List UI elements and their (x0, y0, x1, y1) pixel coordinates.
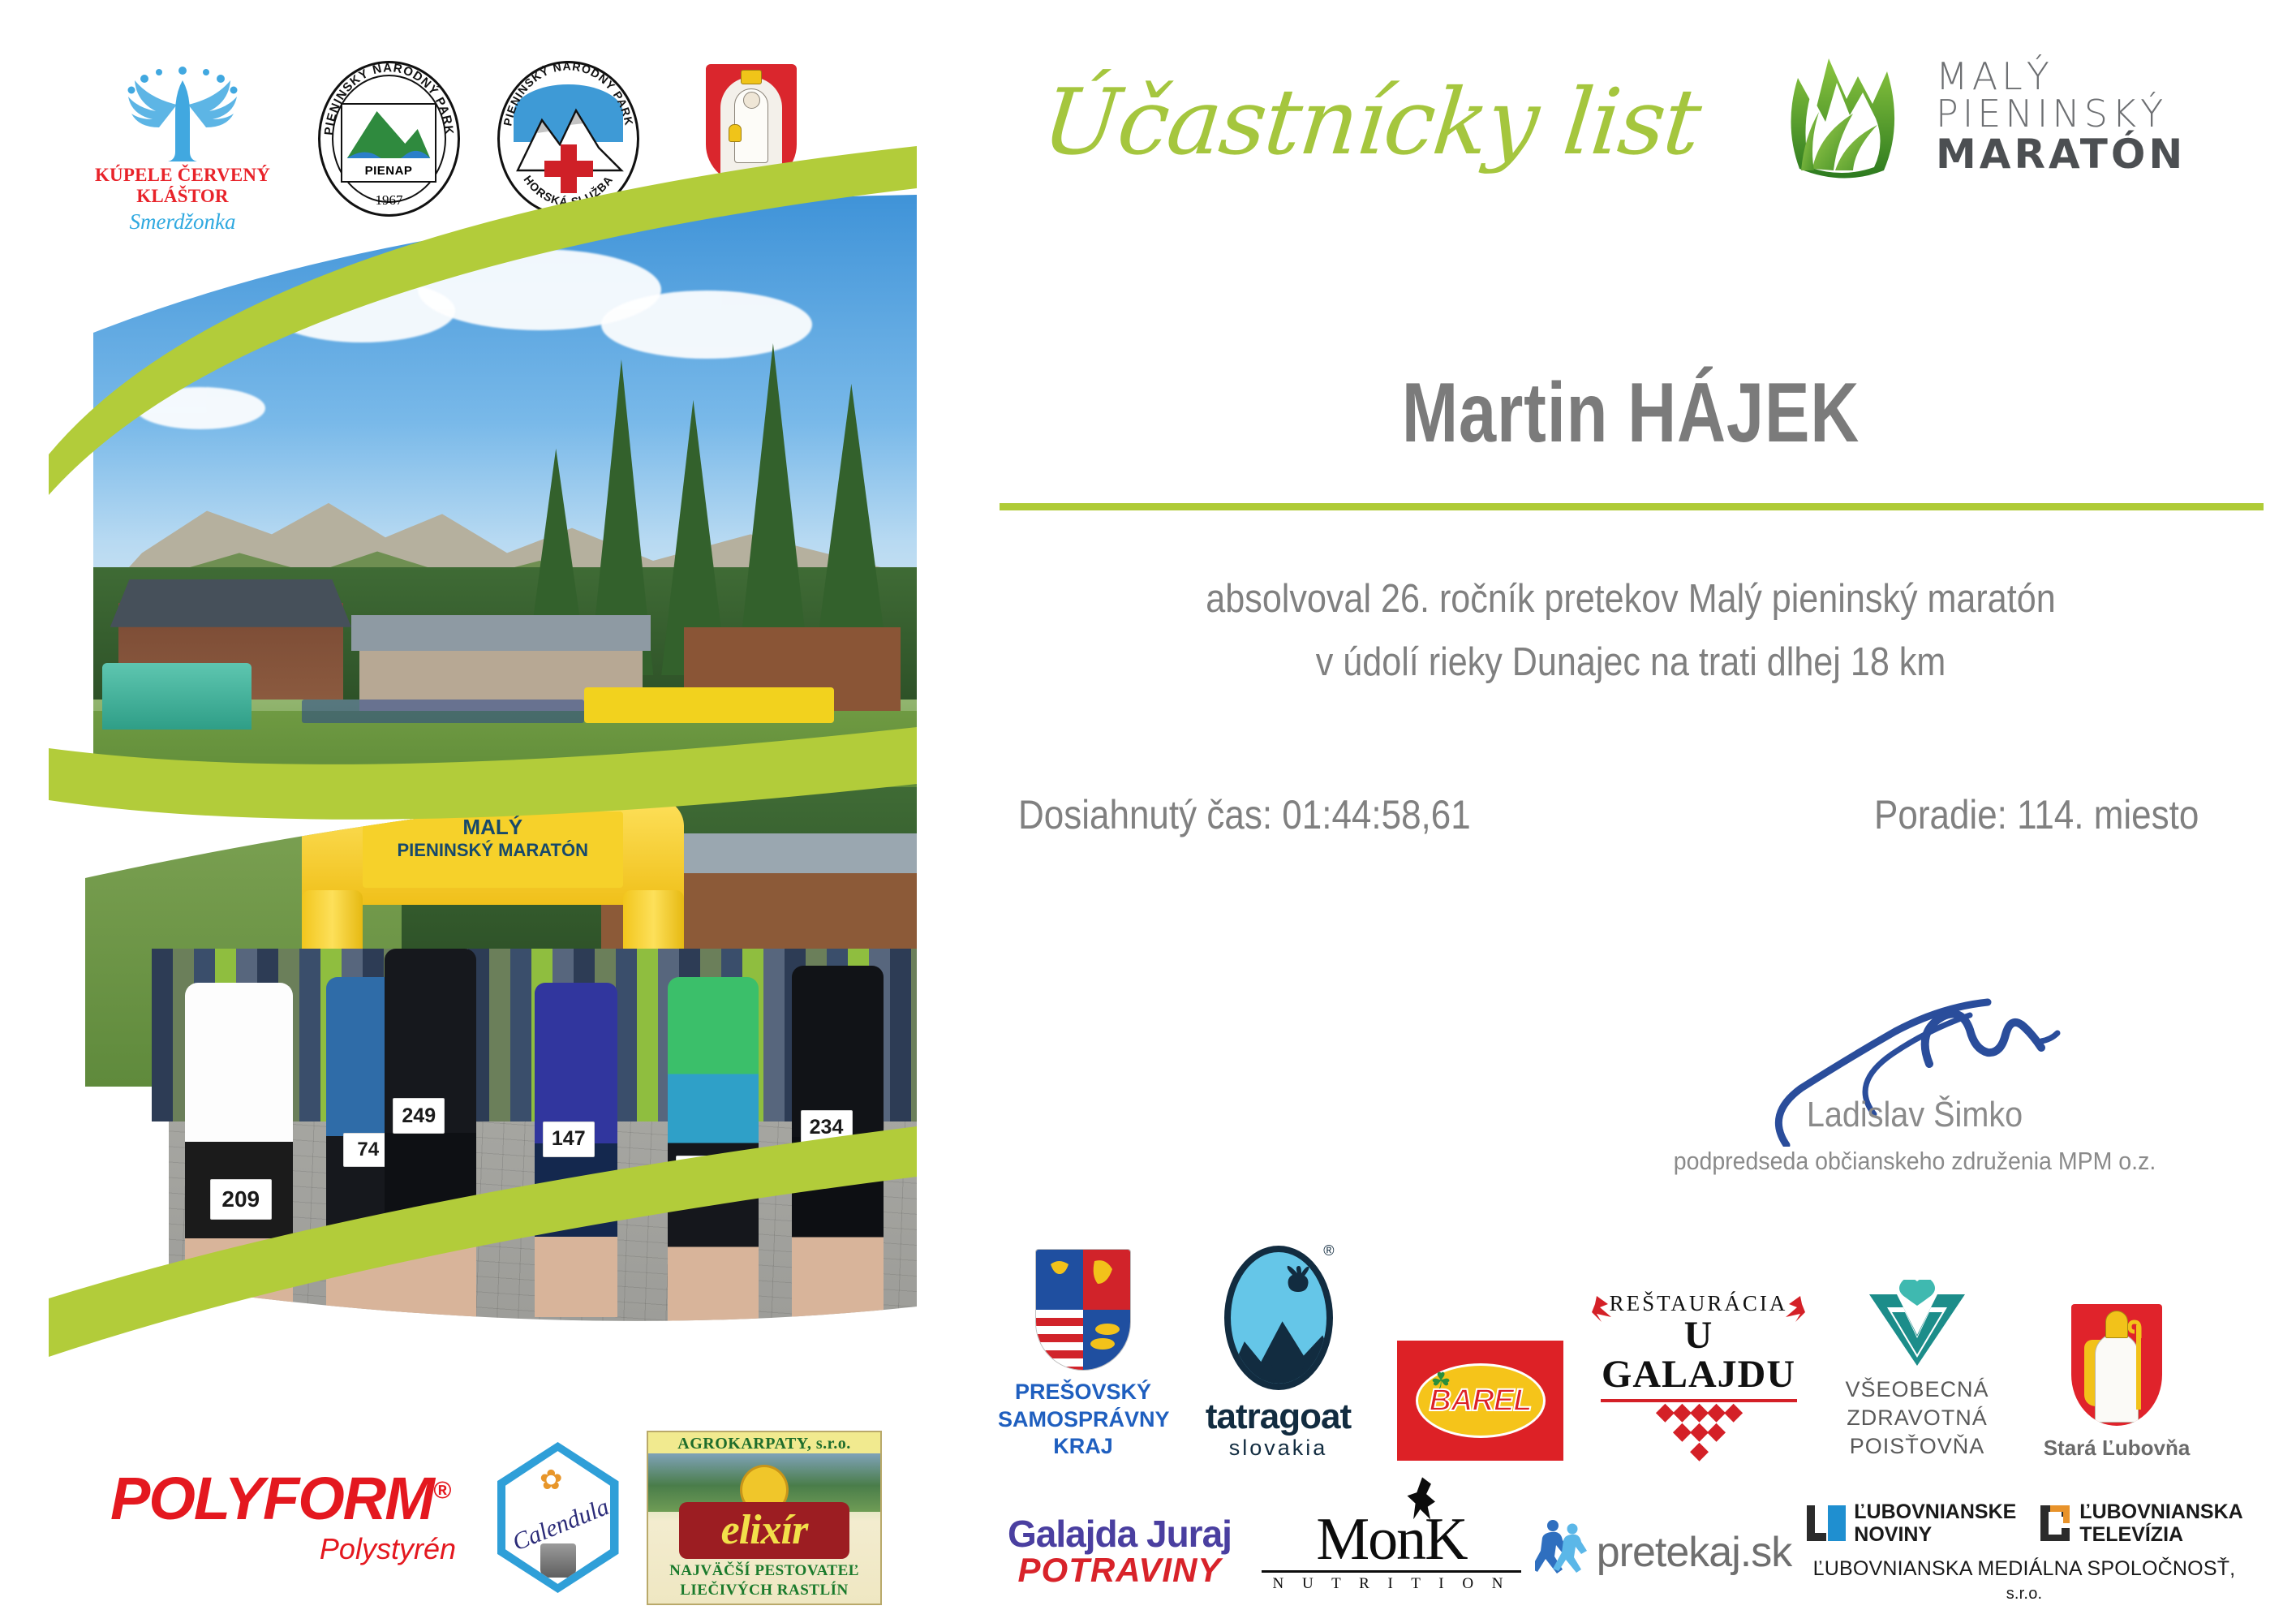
runner-bib: 209 (210, 1179, 272, 1220)
sponsor-presovsky-samospravny-kraj: PREŠOVSKÝ SAMOSPRÁVNY KRAJ (998, 1249, 1168, 1461)
venue-photo (85, 195, 917, 795)
runner-figure (668, 977, 759, 1323)
tatragoat-wordmark: tatragoat (1183, 1397, 1374, 1437)
sponsor-row-secondary: Galajda Juraj POTRAVINY MonK N U T R I T… (986, 1489, 2296, 1615)
tatragoat-emblem-icon (1224, 1246, 1333, 1390)
ln-monogram-icon (1805, 1504, 1847, 1543)
bishop-robe-shape (2095, 1333, 2139, 1423)
elixir-caption-2: LIEČIVÝCH RASTLÍN (648, 1581, 880, 1600)
tatragoat-subtitle: slovakia (1183, 1436, 1374, 1461)
yellow-bikes-row (584, 687, 834, 723)
psk-label-2: SAMOSPRÁVNY (998, 1406, 1168, 1434)
svg-text:PIENINSKÝ NÁRODNÝ PARK: PIENINSKÝ NÁRODNÝ PARK (501, 61, 635, 127)
signature-role: podpredseda občianskeho združenia MPM o.… (1631, 1147, 2198, 1176)
runner-bib: 249 (393, 1098, 445, 1134)
mpm-logo-line3: MARATÓN (1936, 134, 2186, 174)
elixir-ribbon: elixír (679, 1502, 849, 1559)
sponsor-vseobecna-zdravotna-poistovna: VŠEOBECNÁ ZDRAVOTNÁ POISŤOVŇA (1820, 1280, 2014, 1461)
ln-label-2: NOVINY (1854, 1523, 2016, 1546)
runners-icon (1535, 1518, 1592, 1587)
mortar-and-pestle-icon (540, 1543, 576, 1578)
vzp-chevron-icon (1866, 1280, 1968, 1367)
polyform-wordmark: POLYFORM (110, 1465, 433, 1532)
sponsor-polyform: POLYFORM® Polystyrén (97, 1469, 462, 1566)
event-tent (102, 663, 252, 729)
result-row: Dosiahnutý čas: 01:44:58,61 Poradie: 114… (998, 791, 2264, 838)
sponsor-stara-lubovna: Stará Ľubovňa (2019, 1304, 2214, 1461)
sponsor-barel: ☘ BAREL (1385, 1341, 1576, 1461)
mitre-icon (2105, 1311, 2128, 1338)
spruce-trees-icon (1249, 1348, 1323, 1380)
tv-label-2: TELEVÍZIA (2079, 1523, 2242, 1546)
sponsor-galajda-juraj: Galajda Juraj POTRAVINY (986, 1515, 1253, 1588)
lms-footer-main: ĽUBOVNIANSKA MEDIÁLNA SPOLOČNOSŤ, (1813, 1557, 2236, 1580)
psk-coat-of-arms-icon (1035, 1249, 1131, 1371)
folk-pattern-icon: ◆◆◆◆◆◆◆◆◆ (1587, 1402, 1810, 1461)
galajda-juraj-subtitle: POTRAVINY (986, 1552, 1253, 1588)
race-start-photo: MALÝ PIENINSKÝ MARATÓN 209 74 249 147 31… (85, 787, 917, 1363)
stara-lubovna-label: Stará Ľubovňa (2019, 1436, 2214, 1461)
lms-footer-sub: s.r.o. (2006, 1585, 2043, 1603)
tv-label-1: ĽUBOVNIANSKA (2079, 1500, 2242, 1523)
lodge-roof (110, 579, 351, 627)
result-place: Poradie: 114. miesto (1874, 791, 2199, 838)
sponsor-lubovnianska-medialna-spolocnost: ĽUBOVNIANSKE NOVINY ĽUBOVNIANSKA TELEVÍZ… (1797, 1500, 2251, 1604)
lubovnianske-noviny-brand: ĽUBOVNIANSKE NOVINY (1805, 1500, 2016, 1546)
elixir-wordmark: elixír (721, 1506, 808, 1554)
cloud-icon (135, 387, 265, 429)
galajda-juraj-name: Galajda Juraj (986, 1515, 1253, 1552)
mpm-logo-line2: PIENINSKÝ (1936, 95, 2186, 132)
runner-bib: 147 (543, 1121, 595, 1157)
bell-icon (729, 124, 742, 142)
runner-bib: 234 (801, 1110, 853, 1146)
sponsor-row-primary: PREŠOVSKÝ SAMOSPRÁVNY KRAJ ® tatragoat (998, 1242, 2296, 1461)
registered-trademark-icon: ® (1323, 1242, 1334, 1259)
ln-label-1: ĽUBOVNIANSKE (1854, 1500, 2016, 1523)
sponsor-pretekaj-sk: pretekaj.sk (1529, 1518, 1797, 1587)
sponsor-monk-nutrition: MonK N U T R I T I O N (1253, 1511, 1529, 1592)
polyform-subtitle: Polystyrén (97, 1532, 462, 1566)
chamois-icon (1276, 1265, 1314, 1314)
marigold-flower-icon: ✿ (540, 1464, 563, 1496)
tv-monogram-icon (2037, 1504, 2073, 1543)
crown-icon (741, 70, 762, 84)
monk-subtitle: N U T R I T I O N (1253, 1575, 1529, 1593)
stara-lubovna-coat-of-arms-icon (2071, 1304, 2162, 1426)
recipient-name: Martin HÁJEK (1124, 365, 2137, 462)
psk-label-1: PREŠOVSKÝ (998, 1379, 1168, 1406)
mpm-logo: MALÝ PIENINSKÝ MARATÓN (1769, 47, 2272, 185)
runner-bib: 31 (676, 1156, 723, 1190)
barel-oval-icon: ☘ BAREL (1416, 1363, 1546, 1438)
psk-label-3: KRAJ (998, 1433, 1168, 1461)
result-time: Dosiahnutý čas: 01:44:58,61 (1018, 791, 1471, 838)
pretekaj-wordmark: pretekaj.sk (1597, 1528, 1791, 1577)
sponsor-agrokarpaty-elixir: AGROKARPATY, s.r.o. PLAVNICA elixír NAJV… (647, 1431, 890, 1605)
vzp-label-3: POISŤOVŇA (1820, 1432, 2014, 1461)
page-title: Účastnícky list (1009, 77, 1733, 168)
elixir-label-card: AGROKARPATY, s.r.o. PLAVNICA elixír NAJV… (647, 1431, 882, 1605)
certificate-body-line-1: absolvoval 26. ročník pretekov Malý pien… (1074, 576, 2188, 622)
certificate-body-line-2: v údolí rieky Dunajec na trati dlhej 18 … (1074, 639, 2188, 685)
elixir-caption-1: NAJVÄČŠÍ PESTOVATEĽ (648, 1561, 880, 1581)
calendula-hex-icon: ✿ Calendula (497, 1442, 619, 1593)
folk-ornament-left-icon (1590, 1293, 1627, 1325)
arch-line1: MALÝ (363, 816, 623, 840)
lubovnianska-televizia-brand: ĽUBOVNIANSKA TELEVÍZIA (2037, 1500, 2242, 1546)
clover-icon: ☘ (1431, 1367, 1451, 1394)
sponsor-restauracia-u-galajdu: REŠTAURÁCIA U GALAJDU ◆◆◆◆◆◆◆◆◆ (1587, 1291, 1810, 1461)
crozier-curl-icon (2128, 1319, 2149, 1340)
hall-roof (351, 615, 651, 651)
green-divider (1000, 503, 2264, 510)
signature-block: Ladislav Šimko podpredseda občianskeho z… (1606, 1002, 2223, 1176)
signature-name: Ladislav Šimko (1637, 1095, 2192, 1135)
crowd-band (302, 700, 585, 724)
arch-line2: PIENINSKÝ MARATÓN (363, 840, 623, 860)
vzp-label-2: ZDRAVOTNÁ (1820, 1404, 2014, 1432)
registered-trademark-icon: ® (433, 1477, 449, 1504)
photo-column: MALÝ PIENINSKÝ MARATÓN 209 74 249 147 31… (49, 146, 917, 1371)
sponsor-row-left: POLYFORM® Polystyrén ✿ Calendula AGROKAR… (97, 1416, 933, 1619)
monk-wordmark: MonK (1253, 1511, 1529, 1568)
mpm-logo-line1: MALÝ (1936, 58, 2186, 95)
certificate-page: KÚPELE ČERVENÝ KLÁŠTOR Smerdžonka PIENIN… (0, 0, 2296, 1623)
monk-head-icon (743, 92, 760, 109)
sponsor-tatragoat: ® tatragoat slovakia (1183, 1246, 1374, 1461)
folk-ornament-right-icon (1769, 1293, 1807, 1325)
vzp-label-1: VŠEOBECNÁ (1820, 1375, 2014, 1404)
galajdu-line2: U GALAJDU (1587, 1316, 1810, 1394)
sponsor-calendula: ✿ Calendula (487, 1442, 629, 1593)
runner-figure (185, 983, 293, 1328)
barel-logo-box: ☘ BAREL (1397, 1341, 1563, 1461)
mountain-leaf-icon (1769, 47, 1915, 185)
